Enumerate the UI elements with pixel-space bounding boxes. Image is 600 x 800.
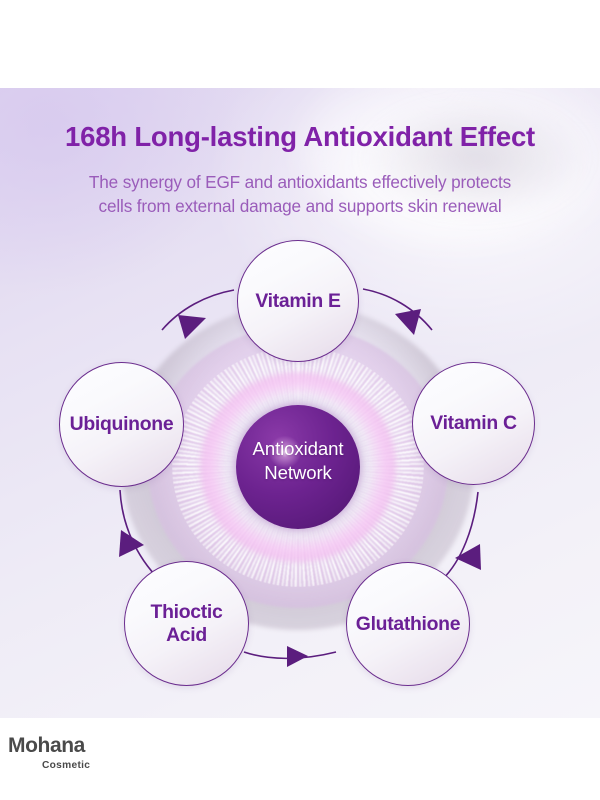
arrowhead-to-vitamin-e — [395, 309, 421, 335]
node-vitamin-c-label: Vitamin C — [424, 412, 522, 434]
node-thioctic-acid-label: Thioctic Acid — [145, 601, 229, 645]
node-vitamin-c[interactable]: Vitamin C — [412, 362, 535, 485]
antioxidant-network-diagram: Antioxidant Network — [0, 0, 600, 800]
node-vitamin-e[interactable]: Vitamin E — [237, 240, 359, 362]
arc-glutathione-to-vitamin-c — [442, 492, 478, 580]
node-thioctic-acid[interactable]: Thioctic Acid — [124, 561, 249, 686]
page-subtitle: The synergy of EGF and antioxidants effe… — [0, 170, 600, 219]
brand-name: Mohana — [8, 735, 90, 756]
page-title: 168h Long-lasting Antioxidant Effect — [0, 122, 600, 152]
brand-tagline: Cosmetic — [42, 761, 90, 771]
node-ubiquinone[interactable]: Ubiquinone — [59, 362, 184, 487]
node-glutathione[interactable]: Glutathione — [346, 562, 470, 686]
arrowhead-to-ubiquinone — [178, 315, 206, 339]
brand-logo: Mohana Cosmetic — [8, 735, 90, 771]
arrowhead-to-vitamin-c — [455, 544, 481, 570]
subtitle-line-1: The synergy of EGF and antioxidants effe… — [0, 170, 600, 194]
node-thioctic-acid-label-line-1: Thioctic — [151, 601, 223, 623]
subtitle-line-2: cells from external damage and supports … — [0, 194, 600, 218]
arrowhead-to-glutathione — [287, 646, 308, 667]
node-ubiquinone-label: Ubiquinone — [64, 413, 180, 435]
node-glutathione-label: Glutathione — [350, 613, 466, 635]
arrowhead-to-thioctic — [119, 530, 144, 557]
node-vitamin-e-label: Vitamin E — [249, 290, 346, 312]
node-thioctic-acid-label-line-2: Acid — [166, 624, 207, 646]
infographic-page: 168h Long-lasting Antioxidant Effect The… — [0, 0, 600, 800]
arc-vitamin-c-to-vitamin-e — [363, 289, 432, 330]
